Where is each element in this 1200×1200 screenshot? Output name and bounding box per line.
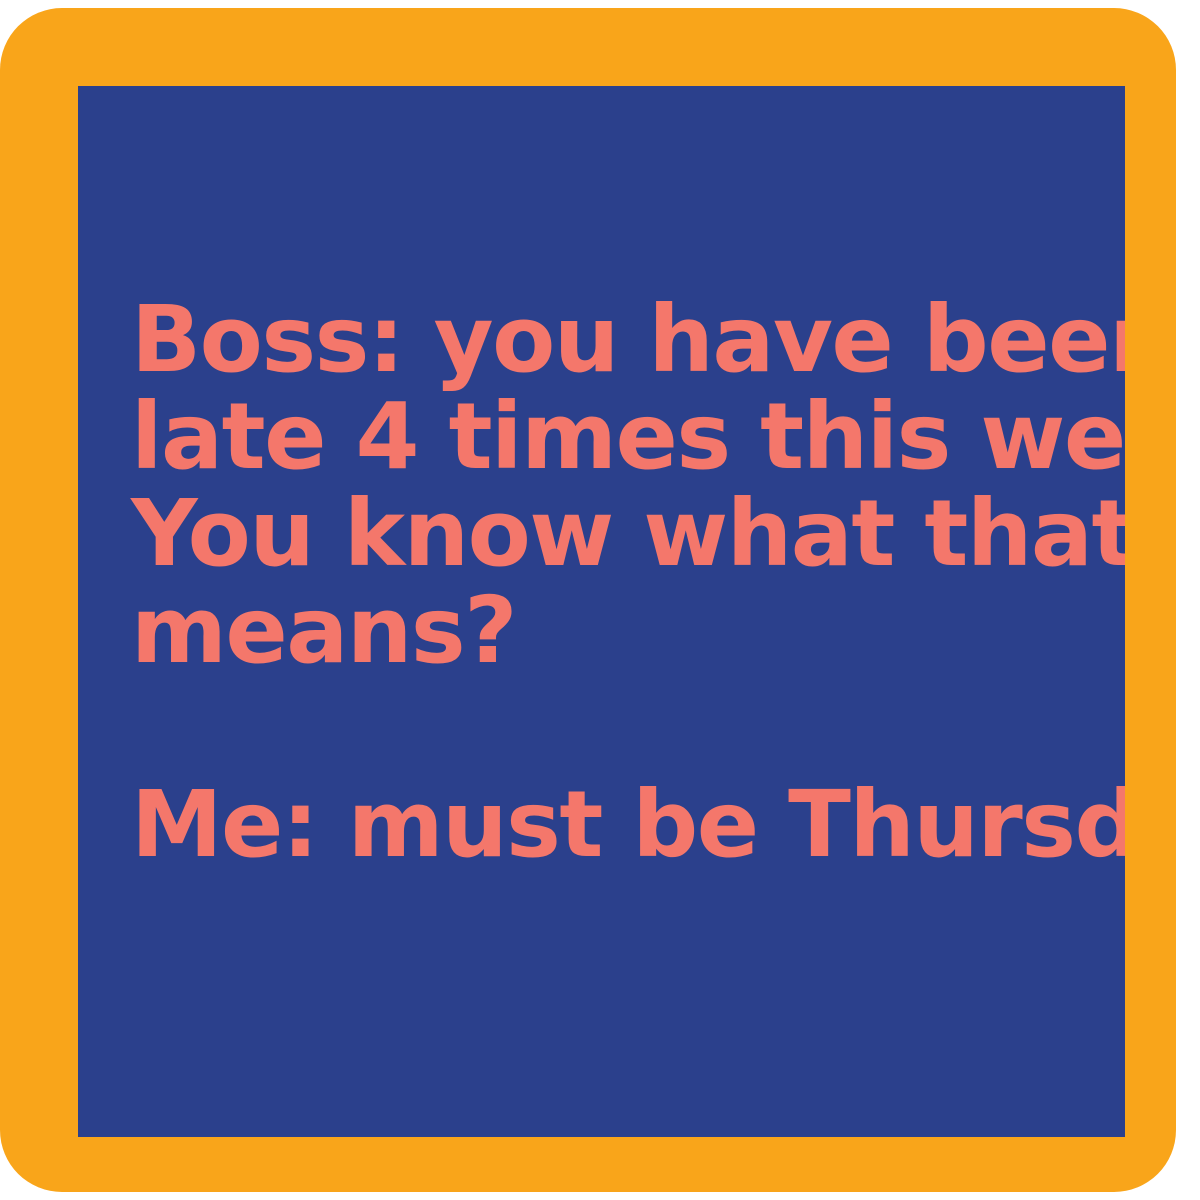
meme-line-3: You know what that: [131, 485, 1111, 582]
meme-line-2: late 4 times this week.: [131, 388, 1111, 485]
meme-line-4: means?: [131, 582, 1111, 679]
meme-line-punchline: Me: must be Thursday: [131, 776, 1111, 873]
blue-content-panel: Boss: you have been late 4 times this we…: [78, 86, 1125, 1137]
orange-rounded-frame: Boss: you have been late 4 times this we…: [0, 8, 1176, 1192]
meme-card-canvas: Boss: you have been late 4 times this we…: [0, 0, 1200, 1200]
meme-text-block: Boss: you have been late 4 times this we…: [131, 291, 1111, 873]
meme-line-blank-spacer: [131, 679, 1111, 776]
meme-line-1: Boss: you have been: [131, 291, 1111, 388]
